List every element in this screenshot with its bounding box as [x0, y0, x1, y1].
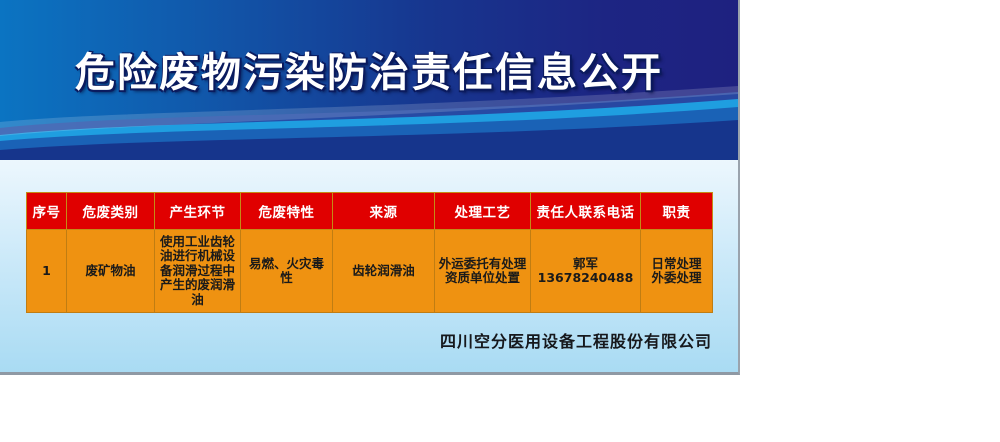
cell-category: 废矿物油: [67, 230, 155, 313]
cell-stage: 使用工业齿轮油进行机械设备润滑过程中产生的废润滑油: [155, 230, 241, 313]
column-header-category: 危废类别: [67, 193, 155, 230]
contact-person-name: 郭军: [533, 257, 638, 272]
poster-header-band: 危险废物污染防治责任信息公开: [0, 0, 738, 160]
contact-person-phone: 13678240488: [533, 271, 638, 286]
duty-line-2: 外委处理: [643, 271, 710, 286]
column-header-process: 处理工艺: [435, 193, 531, 230]
cell-source: 齿轮润滑油: [333, 230, 435, 313]
cell-process: 外运委托有处理资质单位处置: [435, 230, 531, 313]
hazardous-waste-table: 序号 危废类别 产生环节 危废特性 来源 处理工艺 责任人联系电话 职责 1 废…: [26, 192, 713, 313]
cell-duty: 日常处理 外委处理: [641, 230, 713, 313]
cell-property: 易燃、火灾毒性: [241, 230, 333, 313]
cell-index: 1: [27, 230, 67, 313]
column-header-contact: 责任人联系电话: [531, 193, 641, 230]
table-header-row: 序号 危废类别 产生环节 危废特性 来源 处理工艺 责任人联系电话 职责: [27, 193, 713, 230]
cell-contact: 郭军 13678240488: [531, 230, 641, 313]
page-title: 危险废物污染防治责任信息公开: [0, 50, 738, 96]
company-name: 四川空分医用设备工程股份有限公司: [0, 328, 712, 352]
table-row: 1 废矿物油 使用工业齿轮油进行机械设备润滑过程中产生的废润滑油 易燃、火灾毒性…: [27, 230, 713, 313]
poster-board: 危险废物污染防治责任信息公开 序号 危废类别 产生环节 危废特性 来源 处理工艺…: [0, 0, 740, 375]
column-header-property: 危废特性: [241, 193, 333, 230]
column-header-source: 来源: [333, 193, 435, 230]
column-header-index: 序号: [27, 193, 67, 230]
duty-line-1: 日常处理: [643, 257, 710, 272]
column-header-stage: 产生环节: [155, 193, 241, 230]
column-header-duty: 职责: [641, 193, 713, 230]
